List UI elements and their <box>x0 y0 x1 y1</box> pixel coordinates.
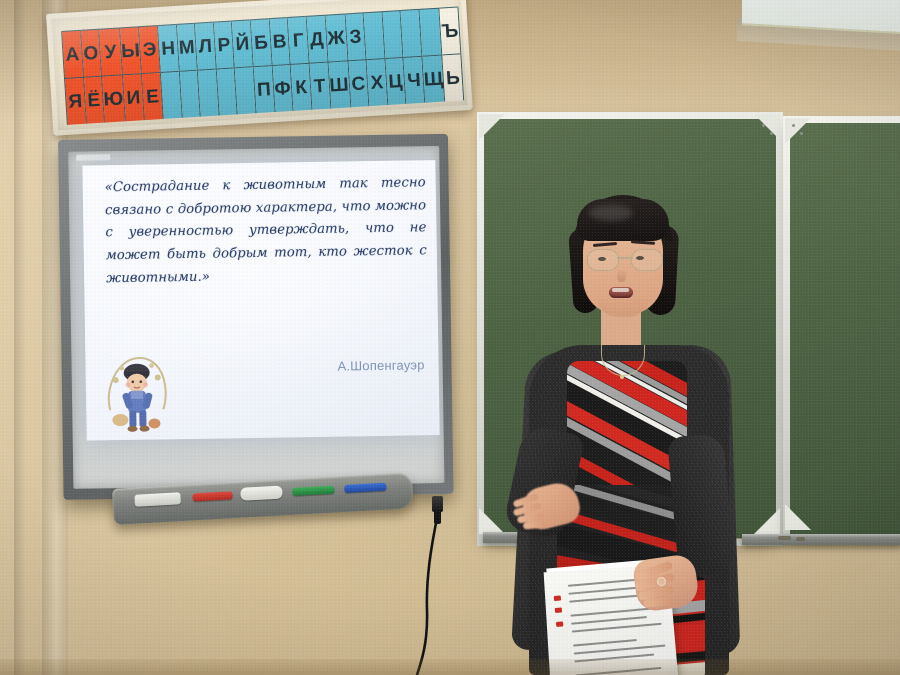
alphabet-cell: Э <box>139 25 160 74</box>
alphabet-cell: Т <box>309 63 329 110</box>
classroom-photo: АЯОЁУЮЫИЭЕНМЛРЙБПВФГКДТЖШЗСХЦЧЩЪЬ «Состр… <box>0 0 900 675</box>
alphabet-cell: Ц <box>385 58 405 105</box>
alphabet-cell: М <box>177 23 198 72</box>
alphabet-cell: Щ <box>422 56 444 103</box>
eraser-tool[interactable] <box>134 492 181 507</box>
alphabet-cell <box>179 71 199 118</box>
paper-red-mark <box>555 607 562 613</box>
mouth-speaking <box>609 287 633 298</box>
blue-pen[interactable] <box>344 483 386 493</box>
necklace-pendant <box>620 375 624 379</box>
interactive-whiteboard[interactable]: «Сострадание к животным так тесно связан… <box>58 134 454 500</box>
alphabet-cell <box>198 70 218 117</box>
dress-bodice <box>567 361 687 501</box>
lens-right <box>631 249 663 271</box>
alphabet-cell: Ф <box>272 65 292 112</box>
alphabet-cell <box>217 68 237 115</box>
alphabet-cell: Ь <box>443 54 463 101</box>
alphabet-cell: Б <box>251 18 272 67</box>
alphabet-cell: Ы <box>120 26 142 75</box>
alphabet-cell: З <box>345 12 366 61</box>
alphabet-cell <box>401 9 422 58</box>
alphabet-cell: С <box>348 60 368 107</box>
eyeglasses <box>587 249 663 271</box>
alphabet-cell: У <box>99 28 122 77</box>
glasses-bridge <box>617 257 633 259</box>
paper-red-mark <box>554 595 561 601</box>
alphabet-cell: Ю <box>102 75 124 122</box>
alphabet-cell: А <box>62 30 83 79</box>
alphabet-cell: И <box>123 74 144 121</box>
chalkboard-right-frame <box>783 116 900 542</box>
alphabet-cell: Й <box>232 19 253 68</box>
alphabet-cell: Р <box>214 21 235 70</box>
alphabet-cell: Х <box>367 59 387 106</box>
projected-slide: «Сострадание к животным так тесно связан… <box>82 160 439 441</box>
chalk-piece[interactable] <box>796 537 805 541</box>
alphabet-cell <box>419 8 441 57</box>
alphabet-cell: О <box>81 29 102 78</box>
alphabet-cell: Е <box>142 73 162 120</box>
lens-left <box>587 249 619 271</box>
alphabet-cell: П <box>254 66 274 113</box>
wall-corner-shadow <box>14 0 26 675</box>
whiteboard-brand-logo <box>76 154 110 161</box>
alphabet-cell: В <box>269 17 290 66</box>
alphabet-cell: Ъ <box>440 7 461 56</box>
hair-highlight <box>589 205 633 221</box>
green-pen[interactable] <box>292 486 334 496</box>
alphabet-cell: Ж <box>325 14 347 63</box>
alphabet-cell: Н <box>158 24 179 73</box>
paper-red-mark <box>556 621 563 627</box>
teeth <box>612 288 629 292</box>
slide-attribution: А.Шопенгауэр <box>337 357 424 373</box>
alphabet-cell: К <box>291 64 311 111</box>
alphabet-cell: Я <box>65 78 85 125</box>
floor-shadow <box>0 659 900 675</box>
alphabet-cell: Ш <box>328 61 350 108</box>
nose <box>617 269 626 282</box>
alphabet-cell: Д <box>307 15 328 64</box>
child-clipart-icon <box>99 349 174 436</box>
alphabet-cell: Ч <box>404 57 424 104</box>
slide-quote-text: «Сострадание к животным так тесно связан… <box>105 172 428 291</box>
finger-ring <box>657 577 666 586</box>
presenting-teacher <box>505 185 795 675</box>
alphabet-cell <box>161 72 181 119</box>
alphabet-cell <box>364 11 385 60</box>
white-pen[interactable] <box>240 486 283 501</box>
alphabet-cell <box>235 67 255 114</box>
alphabet-cell: Ё <box>84 77 104 124</box>
alphabet-cell: Л <box>195 22 216 71</box>
whiteboard-surface[interactable]: «Сострадание к животным так тесно связан… <box>68 146 444 489</box>
alphabet-cell <box>382 10 403 59</box>
alphabet-cell: Г <box>288 16 309 65</box>
vga-cable <box>400 518 460 675</box>
red-pen[interactable] <box>192 491 232 501</box>
